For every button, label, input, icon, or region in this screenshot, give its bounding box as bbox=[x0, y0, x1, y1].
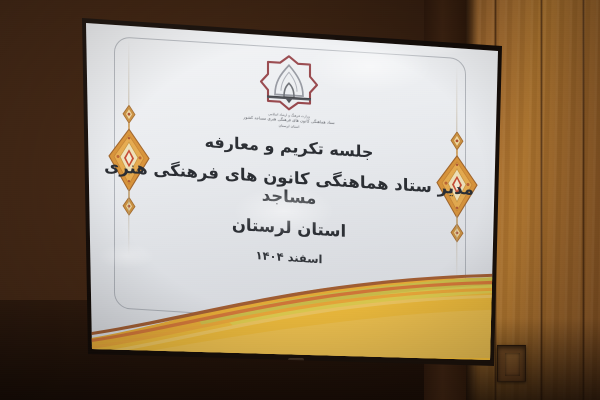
organization-logo: وزارت فرهنگ و ارشاد اسلامی ستاد هماهنگی … bbox=[233, 50, 345, 132]
presentation-slide: وزارت فرهنگ و ارشاد اسلامی ستاد هماهنگی … bbox=[78, 12, 500, 378]
tv-screen: وزارت فرهنگ و ارشاد اسلامی ستاد هماهنگی … bbox=[70, 6, 510, 378]
light-switch-rocker[interactable] bbox=[505, 353, 520, 376]
mosque-dome-star-emblem-icon bbox=[254, 51, 324, 113]
wall-mounted-television: وزارت فرهنگ و ارشاد اسلامی ستاد هماهنگی … bbox=[70, 6, 510, 378]
room-scene: وزارت فرهنگ و ارشاد اسلامی ستاد هماهنگی … bbox=[0, 0, 600, 400]
wall-light-switch[interactable] bbox=[497, 345, 526, 382]
